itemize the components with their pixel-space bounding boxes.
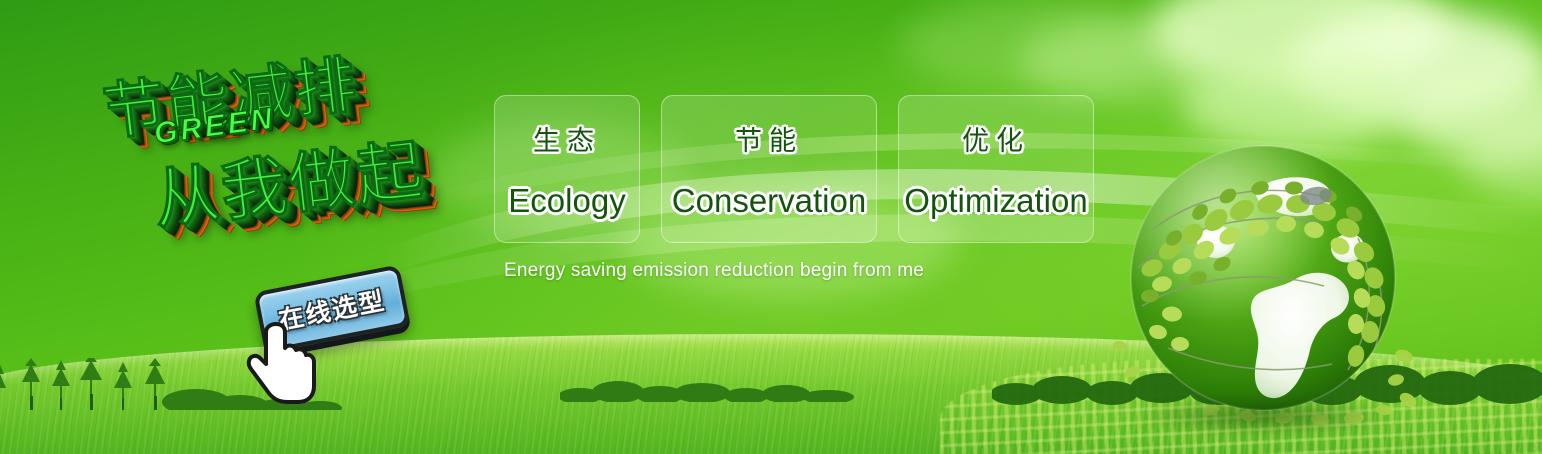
cloud-icon xyxy=(1020,20,1220,100)
feature-card-group: 生态 Ecology 节能 Conservation 优化 Optimizati… xyxy=(494,95,1094,243)
green-energy-banner: 节能减排 GREEN 从我做起 在线选型 生态 Ecology 节能 Conse… xyxy=(0,0,1542,454)
card-ecology-en: Ecology xyxy=(508,182,625,220)
banner-tagline: Energy saving emission reduction begin f… xyxy=(504,260,924,282)
globe-shadow xyxy=(1128,396,1398,436)
card-ecology-cn: 生态 xyxy=(533,119,601,158)
card-conservation-cn: 节能 xyxy=(735,119,803,158)
hand-pointer-icon xyxy=(246,318,320,404)
cloud-icon xyxy=(1460,120,1542,200)
cloud-icon xyxy=(1400,70,1542,160)
cloud-icon xyxy=(1150,0,1450,90)
headline-3d-art: 节能减排 GREEN 从我做起 xyxy=(79,11,525,307)
leafy-globe-icon xyxy=(1108,118,1418,428)
card-ecology[interactable]: 生态 Ecology xyxy=(494,95,640,243)
cloud-icon xyxy=(1290,10,1542,120)
card-conservation[interactable]: 节能 Conservation xyxy=(661,95,877,243)
cloud-icon xyxy=(900,0,1160,90)
card-conservation-en: Conservation xyxy=(672,182,866,220)
card-optimization[interactable]: 优化 Optimization xyxy=(898,95,1094,243)
card-optimization-cn: 优化 xyxy=(962,119,1030,158)
card-optimization-en: Optimization xyxy=(904,182,1087,220)
